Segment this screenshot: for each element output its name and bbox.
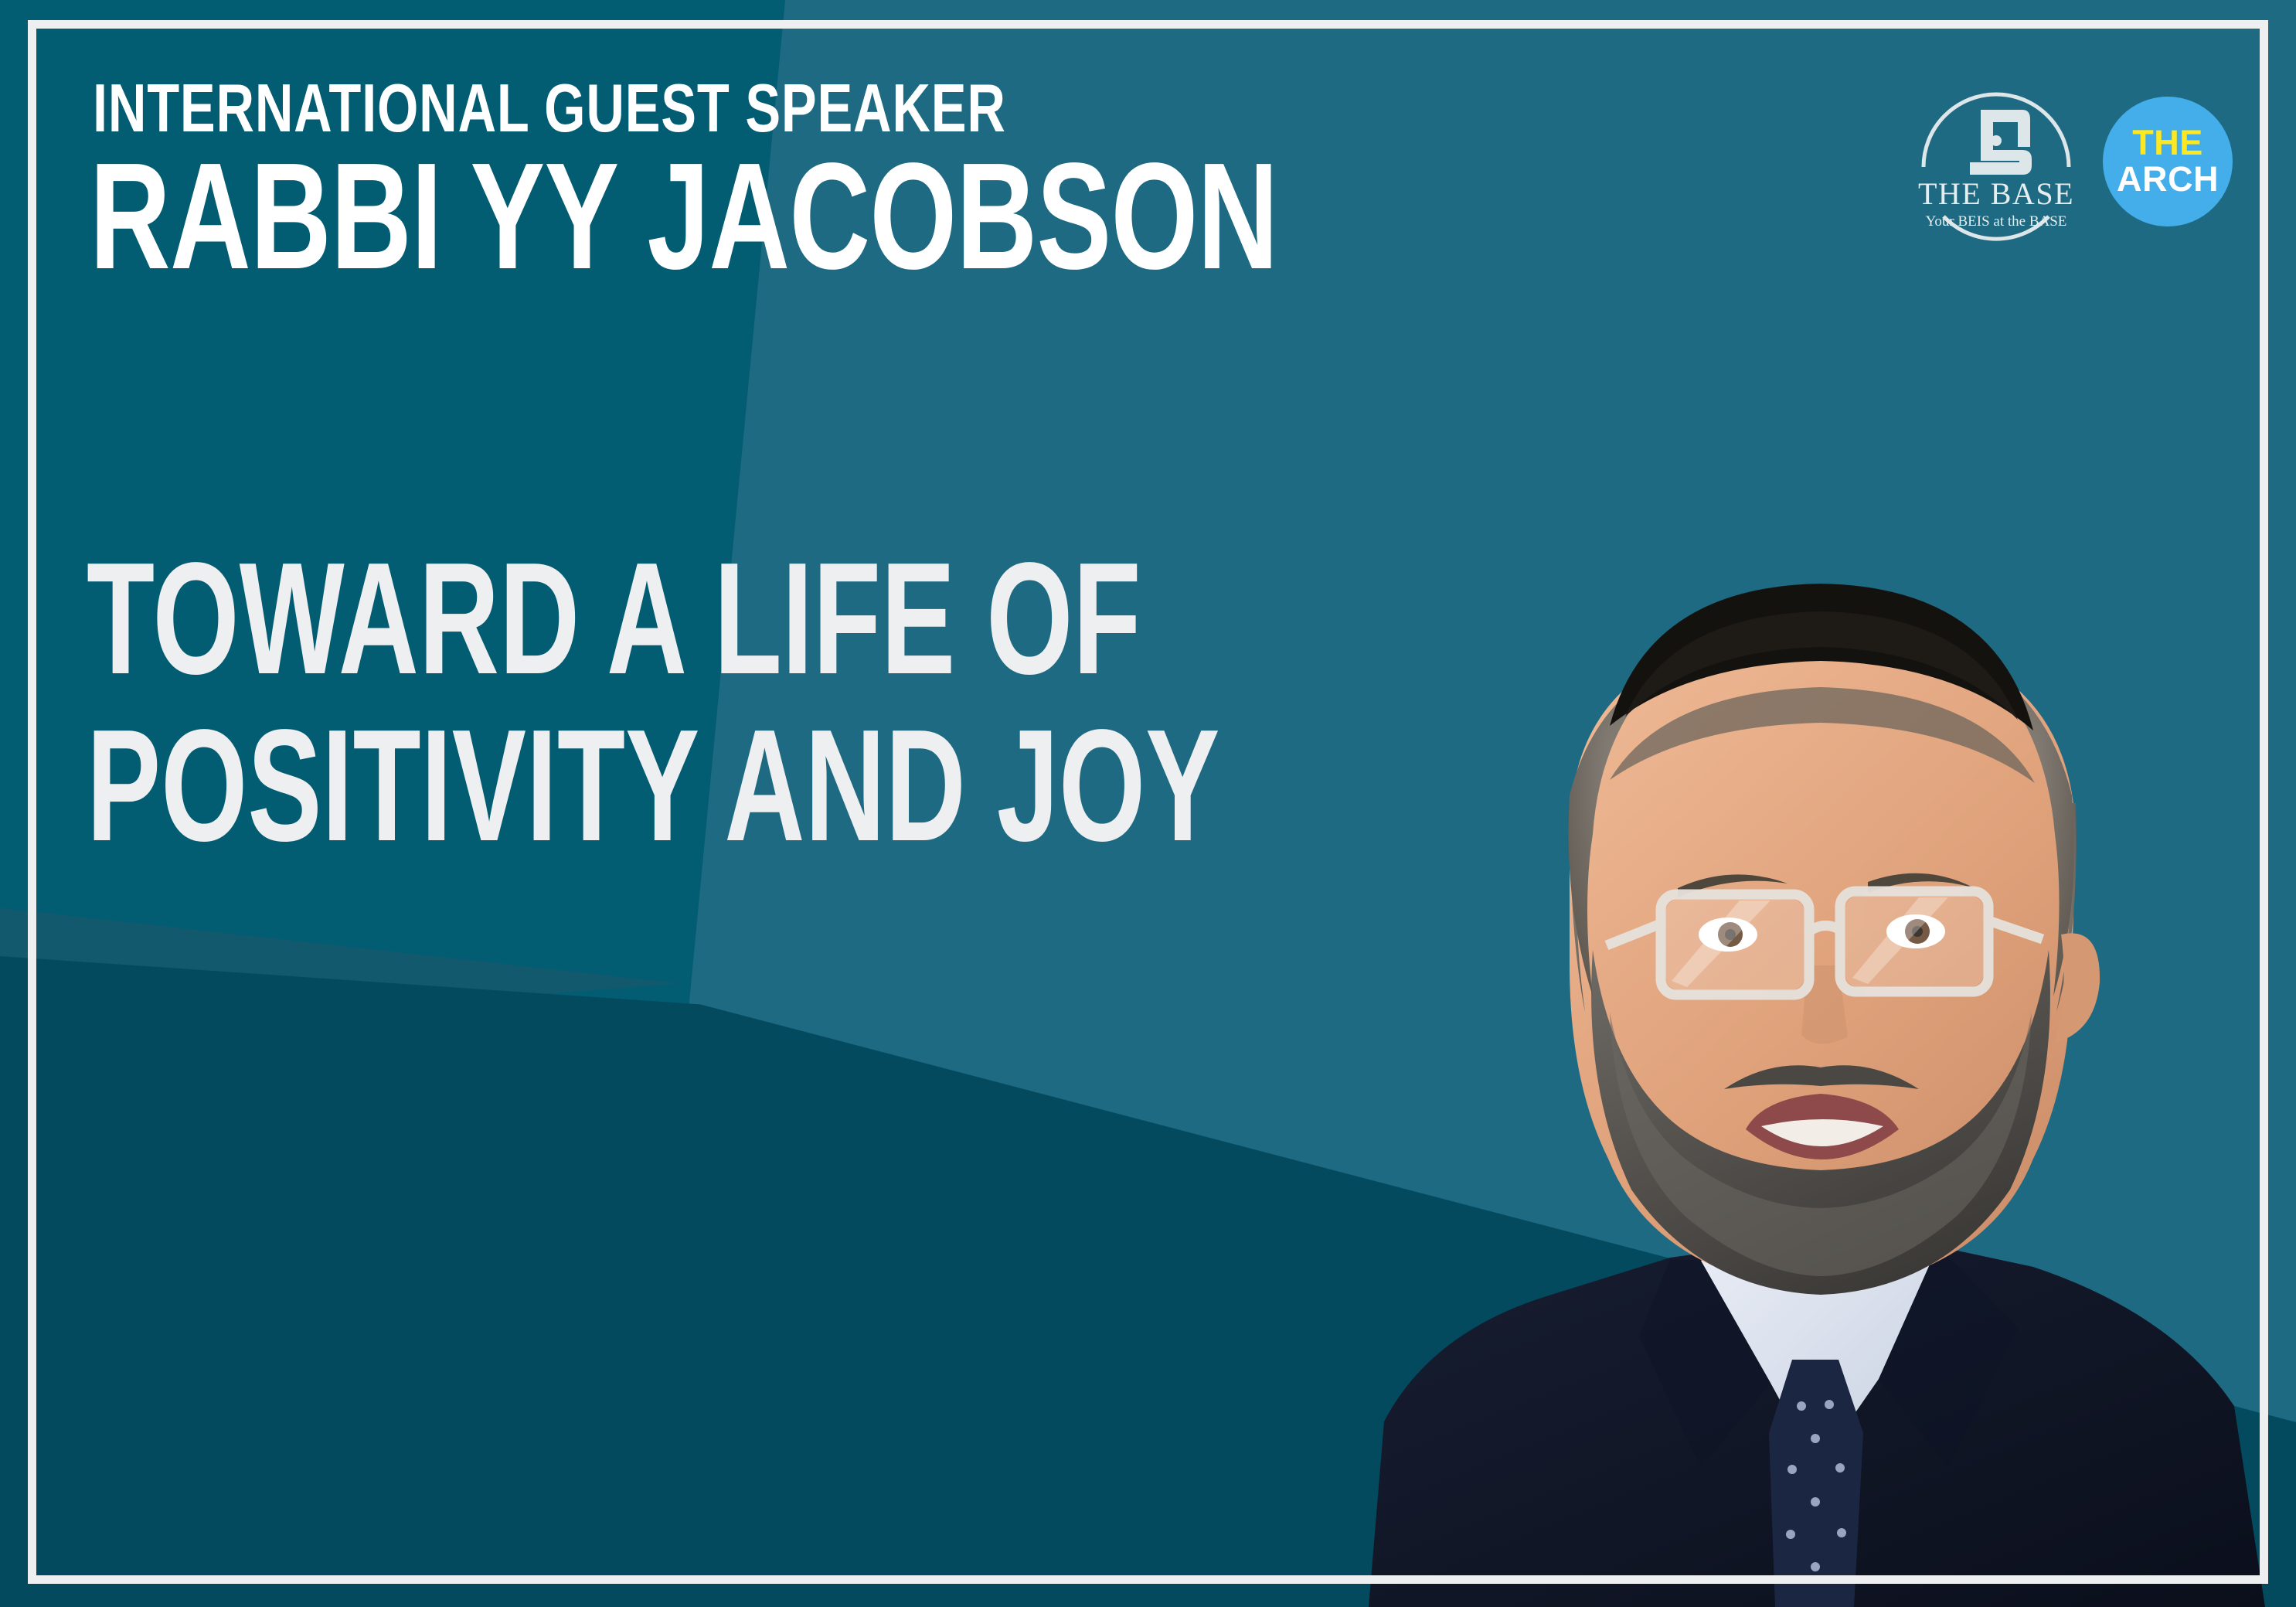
event-poster: INTERNATIONAL GUEST SPEAKER RABBI YY JAC… [0, 0, 2296, 1607]
arch-logo-line-1: THE [2132, 125, 2203, 162]
speaker-name: RABBI YY JACOBSON [90, 141, 1278, 292]
the-arch-logo: THE ARCH [2103, 97, 2233, 226]
headline: TOWARD A LIFE OF POSITIVITY AND JOY [87, 541, 1706, 864]
svg-text:THE BASE: THE BASE [1918, 176, 2074, 211]
the-base-logo: THE BASE Your BEIS at the BASE [1910, 76, 2083, 247]
arch-logo-line-2: ARCH [2117, 162, 2219, 198]
logo-group: THE BASE Your BEIS at the BASE THE ARCH [1910, 76, 2233, 247]
headline-line-1: TOWARD A LIFE OF [87, 541, 1219, 697]
headline-line-2: POSITIVITY AND JOY [87, 708, 1219, 864]
svg-text:Your BEIS at the BASE: Your BEIS at the BASE [1926, 213, 2067, 230]
